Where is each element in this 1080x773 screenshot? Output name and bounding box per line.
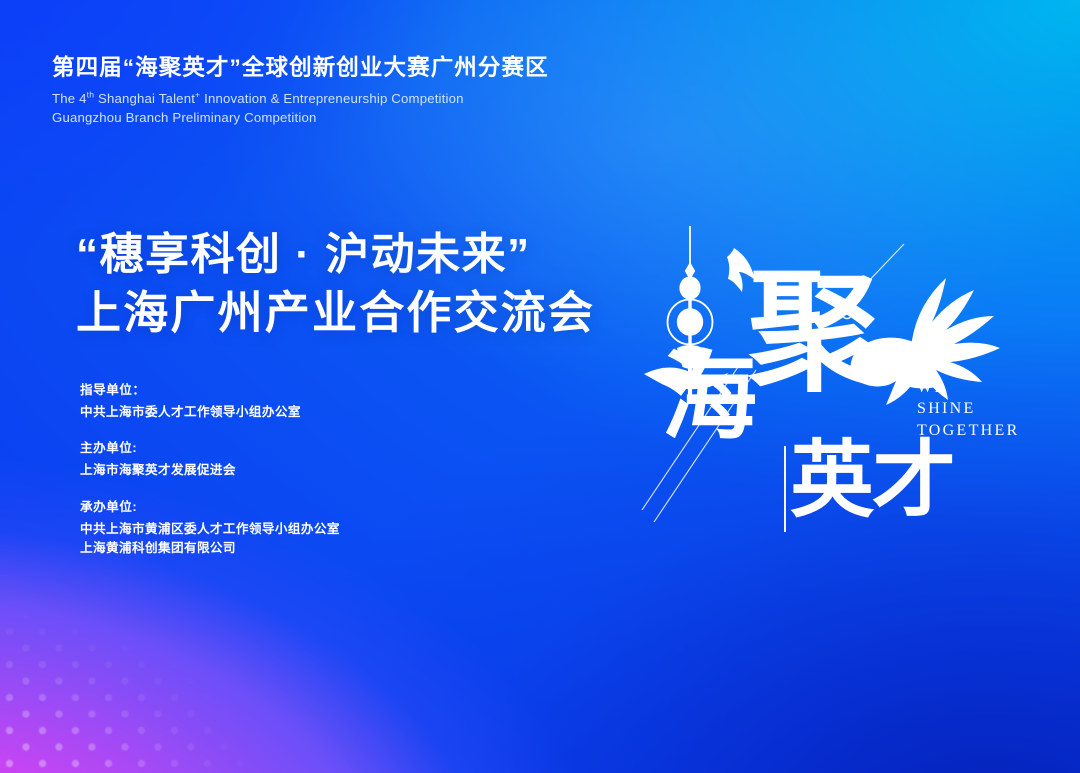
tagline-line-1: WE bbox=[917, 377, 1020, 398]
emblem-tagline: WE SHINE TOGETHER bbox=[917, 377, 1020, 441]
credit-organization: 上海市海聚英才发展促进会 bbox=[80, 461, 500, 481]
competition-title-en: The 4th Shanghai Talent+ Innovation & En… bbox=[52, 89, 692, 128]
emblem-glyph-ju: 聚 bbox=[748, 268, 880, 400]
credit-organization: 中共上海市黄浦区委人才工作领导小组办公室 bbox=[80, 520, 500, 540]
competition-title-en-line1: The 4th Shanghai Talent+ Innovation & En… bbox=[52, 89, 692, 109]
emblem-vertical-rule bbox=[784, 446, 786, 532]
organizer-credits: 指导单位： 中共上海市委人才工作领导小组办公室 主办单位: 上海市海聚英才发展促… bbox=[80, 381, 500, 559]
competition-title-en-line2: Guangzhou Branch Preliminary Competition bbox=[52, 108, 692, 128]
credit-label: 承办单位: bbox=[80, 498, 500, 517]
title-en-prefix: The 4 bbox=[52, 91, 87, 106]
competition-title-cn: 第四届“海聚英才”全球创新创业大赛广州分赛区 bbox=[52, 54, 692, 82]
title-en-suffix: Innovation & Entrepreneurship Competitio… bbox=[200, 91, 463, 106]
credit-organization: 上海黄浦科创集团有限公司 bbox=[80, 539, 500, 559]
title-en-middle: Shanghai Talent bbox=[94, 91, 195, 106]
poster-header: 第四届“海聚英才”全球创新创业大赛广州分赛区 The 4th Shanghai … bbox=[52, 54, 692, 128]
poster-canvas: 第四届“海聚英才”全球创新创业大赛广州分赛区 The 4th Shanghai … bbox=[0, 0, 1080, 773]
emblem-glyph-ying: 英 bbox=[790, 440, 874, 524]
main-title-line-1: “穗享科创 · 沪动未来” bbox=[76, 226, 696, 283]
credit-label: 指导单位： bbox=[80, 381, 500, 400]
credit-block-guidance: 指导单位： 中共上海市委人才工作领导小组办公室 bbox=[80, 381, 500, 422]
emblem-glyph-hai: 海 bbox=[661, 350, 757, 446]
main-title-line-2: 上海广州产业合作交流会 bbox=[76, 284, 696, 343]
credit-block-organizer: 承办单位: 中共上海市黄浦区委人才工作领导小组办公室 上海黄浦科创集团有限公司 bbox=[80, 498, 500, 559]
main-title: “穗享科创 · 沪动未来” 上海广州产业合作交流会 bbox=[76, 226, 696, 343]
tagline-line-3: TOGETHER bbox=[917, 420, 1020, 441]
credit-organization: 中共上海市委人才工作领导小组办公室 bbox=[80, 403, 500, 423]
credit-label: 主办单位: bbox=[80, 439, 500, 458]
emblem-glyph-cai: 才 bbox=[872, 440, 956, 524]
tagline-line-2: SHINE bbox=[917, 398, 1020, 419]
credit-block-host: 主办单位: 上海市海聚英才发展促进会 bbox=[80, 439, 500, 480]
